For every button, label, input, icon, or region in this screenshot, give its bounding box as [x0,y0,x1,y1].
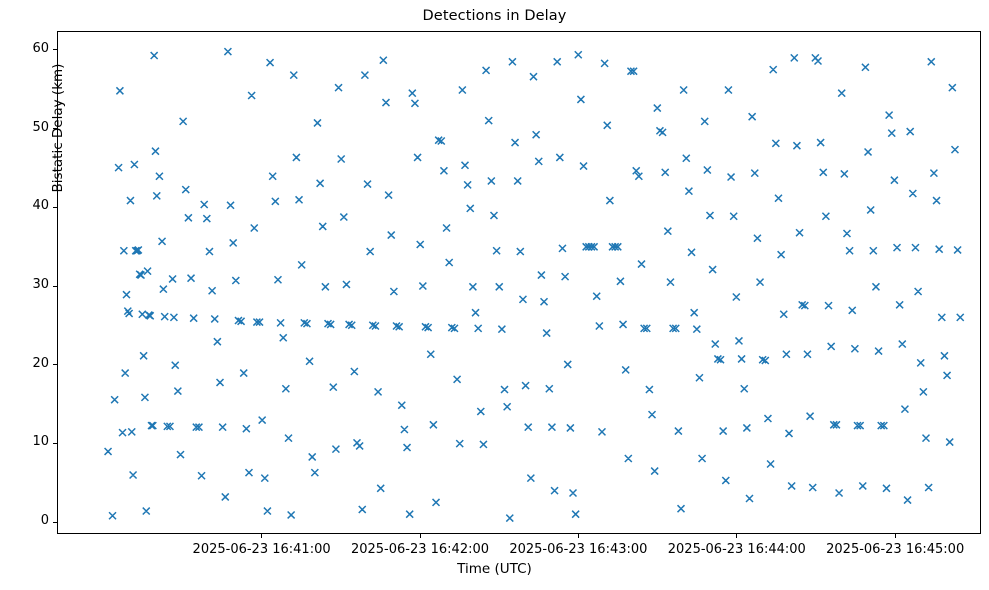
x-tick-label: 2025-06-23 16:41:00 [172,542,352,557]
y-tick-label: 60 [1,41,49,56]
scatter-series [105,48,964,521]
x-tick-mark [736,534,737,538]
y-tick-label: 30 [1,277,49,292]
y-axis-label: Bistatic Delay (km) [50,0,66,258]
x-tick-label: 2025-06-23 16:45:00 [805,542,985,557]
y-tick-mark [53,286,57,287]
x-tick-mark [420,534,421,538]
page-title: Detections in Delay [0,8,989,24]
x-tick-mark [578,534,579,538]
x-tick-label: 2025-06-23 16:44:00 [647,542,827,557]
scatter-plot-svg [58,32,980,533]
y-tick-mark [53,364,57,365]
plot-axes [57,31,981,534]
figure-canvas: Detections in Delay 01020304050602025-06… [0,0,989,590]
y-tick-label: 10 [1,434,49,449]
x-axis-label: Time (UTC) [0,561,989,577]
x-tick-label: 2025-06-23 16:42:00 [330,542,510,557]
y-tick-mark [53,522,57,523]
x-tick-mark [261,534,262,538]
y-tick-label: 50 [1,120,49,135]
y-tick-label: 20 [1,356,49,371]
y-tick-mark [53,443,57,444]
x-tick-label: 2025-06-23 16:43:00 [488,542,668,557]
y-tick-label: 0 [1,513,49,528]
y-tick-label: 40 [1,198,49,213]
x-tick-mark [895,534,896,538]
